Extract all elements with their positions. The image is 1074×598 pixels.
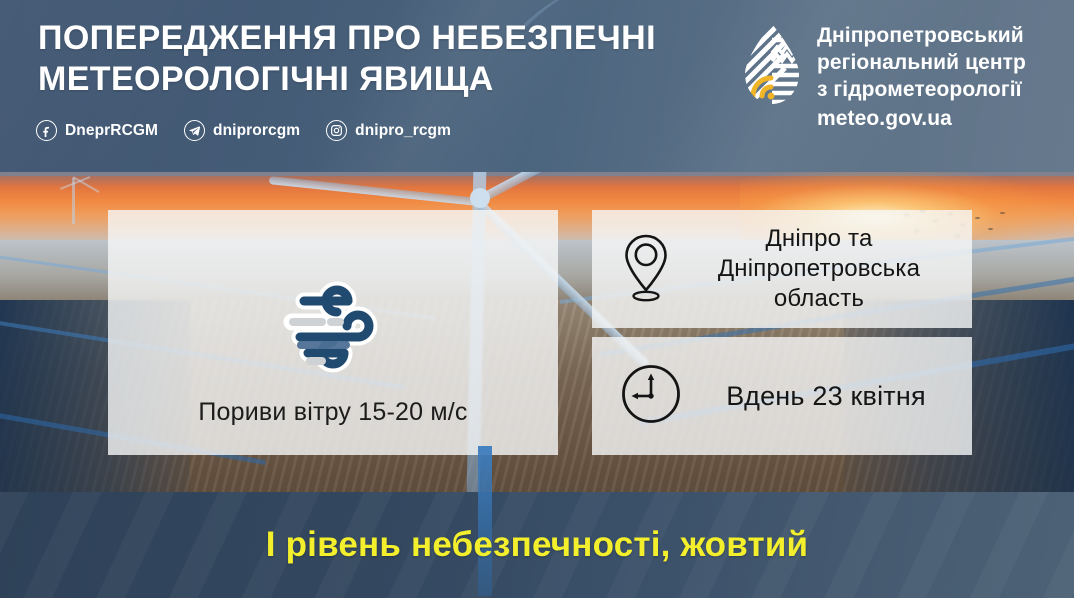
- wind-gust-icon: [274, 275, 392, 380]
- organisation-website[interactable]: meteo.gov.ua: [817, 107, 1026, 131]
- organisation-name: Дніпропетровський регіональний центр з г…: [817, 22, 1026, 131]
- weather-warning-poster: ПОПЕРЕДЖЕННЯ ПРО НЕБЕЗПЕЧНІ МЕТЕОРОЛОГІЧ…: [0, 0, 1074, 598]
- time-text: Вдень 23 квітня: [698, 379, 954, 413]
- danger-level-band: I рівень небезпечності, жовтий: [0, 492, 1074, 598]
- clock-icon: [620, 363, 682, 430]
- header-banner: ПОПЕРЕДЖЕННЯ ПРО НЕБЕЗПЕЧНІ МЕТЕОРОЛОГІЧ…: [0, 0, 1074, 172]
- logo-line-1: Дніпропетровський: [817, 24, 1024, 47]
- instagram-icon: [326, 120, 347, 141]
- social-link-facebook[interactable]: DneprRCGM: [36, 120, 158, 141]
- time-card: Вдень 23 квітня: [592, 337, 972, 455]
- location-text: Дніпро та Дніпропетровська область: [684, 224, 954, 315]
- logo-line-3: з гідрометеорології: [817, 78, 1022, 101]
- social-handle: DneprRCGM: [65, 122, 158, 140]
- organisation-logo[interactable]: Дніпропетровський регіональний центр з г…: [741, 22, 1026, 131]
- social-links: DneprRCGM dniprorcgm d: [36, 120, 451, 141]
- logo-line-2: регіональний центр: [817, 51, 1026, 74]
- wind-icon-wrap: [274, 256, 392, 398]
- danger-level-text: I рівень небезпечності, жовтий: [266, 525, 809, 565]
- phenomenon-label: Пориви вітру 15-20 м/с: [198, 398, 467, 427]
- water-drop-hydromet-logo-icon: [741, 22, 803, 108]
- wind-turbine-hub: [470, 188, 490, 208]
- phenomenon-card: Пориви вітру 15-20 м/с: [108, 210, 558, 455]
- social-link-telegram[interactable]: dniprorcgm: [184, 120, 300, 141]
- social-handle: dnipro_rcgm: [355, 122, 451, 140]
- map-pin-icon: [620, 231, 672, 308]
- telegram-icon: [184, 120, 205, 141]
- page-title: ПОПЕРЕДЖЕННЯ ПРО НЕБЕЗПЕЧНІ МЕТЕОРОЛОГІЧ…: [38, 18, 656, 100]
- facebook-icon: [36, 120, 57, 141]
- location-card: Дніпро та Дніпропетровська область: [592, 210, 972, 328]
- social-handle: dniprorcgm: [213, 122, 300, 140]
- social-link-instagram[interactable]: dnipro_rcgm: [326, 120, 451, 141]
